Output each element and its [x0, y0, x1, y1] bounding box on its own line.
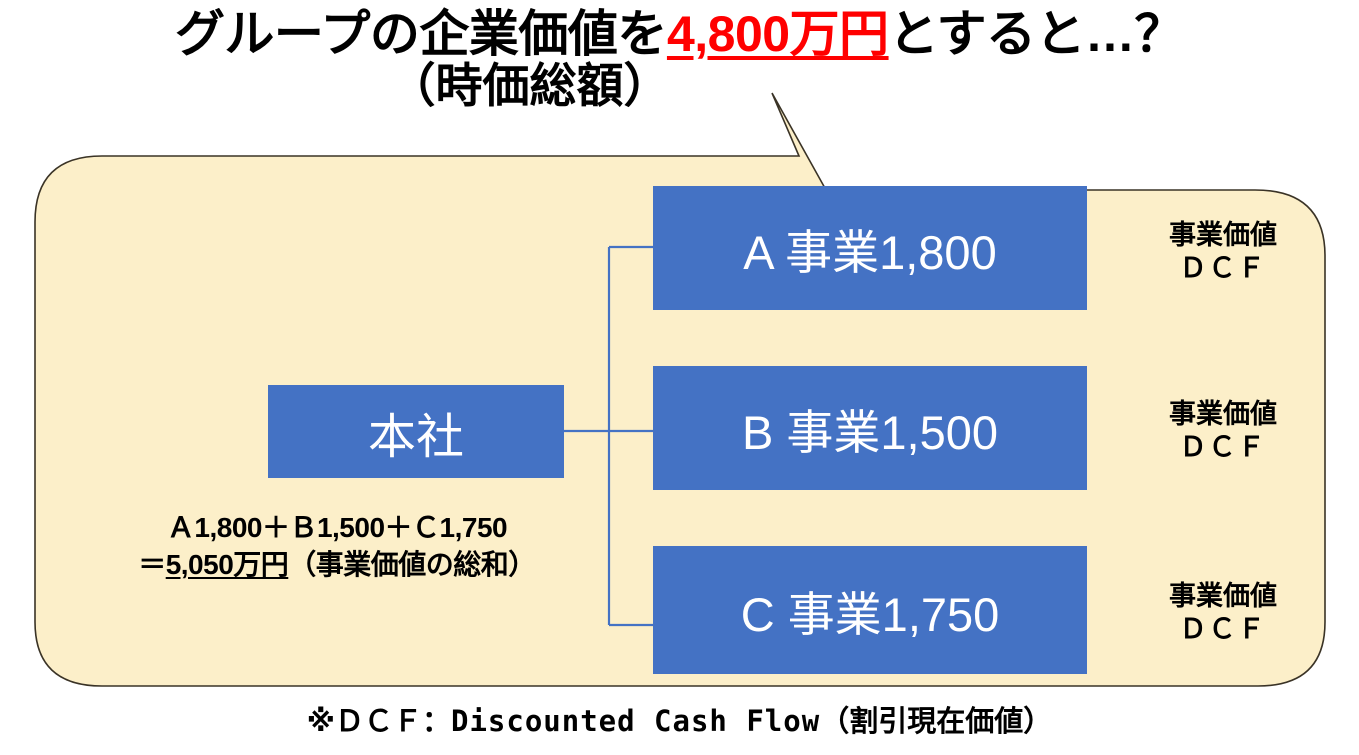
title-text-before: グループの企業価値を	[175, 6, 667, 62]
side-label-c-line1: 事業価値	[1169, 581, 1277, 611]
side-label-a: 事業価値 ＤＣＦ	[1113, 219, 1333, 285]
footnote-marker: ※ＤＣＦ：	[307, 706, 451, 738]
side-label-a-line1: 事業価値	[1169, 220, 1277, 250]
formula-total: 5,050万円	[166, 549, 289, 580]
footnote: ※ＤＣＦ：Discounted Cash Flow（割引現在価値）	[0, 698, 1359, 740]
title-highlight-amount: 4,800万円	[667, 6, 889, 62]
footnote-english: Discounted Cash Flow	[451, 704, 820, 738]
org-diagram: 本社 A 事業1,800 B 事業1,500 C 事業1,750 事業価値 ＤＣ…	[0, 0, 1359, 755]
footnote-japanese: （割引現在価値）	[820, 706, 1052, 738]
parent-company-box[interactable]: 本社	[268, 385, 564, 478]
business-unit-box-a[interactable]: A 事業1,800	[653, 186, 1087, 310]
side-label-c-line2: ＤＣＦ	[1113, 613, 1333, 646]
formula-block: Ａ1,800＋Ｂ1,500＋Ｃ1,750 ＝5,050万円（事業価値の総和）	[72, 510, 602, 584]
formula-line-2: ＝5,050万円（事業価値の総和）	[72, 547, 602, 584]
business-unit-label-c: C 事業1,750	[741, 576, 1000, 645]
formula-equals: ＝	[138, 549, 166, 580]
title-text-after: とすると…？	[889, 6, 1185, 62]
title-line-1: グループの企業価値を4,800万円とすると…？	[0, 8, 1359, 60]
page-title: グループの企業価値を4,800万円とすると…？ （時価総額）	[0, 8, 1359, 111]
side-label-c: 事業価値 ＤＣＦ	[1113, 580, 1333, 646]
parent-company-label: 本社	[368, 397, 464, 467]
side-label-b-line1: 事業価値	[1169, 399, 1277, 429]
side-label-b-line2: ＤＣＦ	[1113, 431, 1333, 464]
formula-note: （事業価値の総和）	[288, 549, 536, 580]
title-line-2: （時価総額）	[0, 62, 1359, 111]
business-unit-label-b: B 事業1,500	[742, 394, 998, 463]
business-unit-box-b[interactable]: B 事業1,500	[653, 366, 1087, 490]
formula-line-1: Ａ1,800＋Ｂ1,500＋Ｃ1,750	[167, 512, 507, 543]
business-unit-label-a: A 事業1,800	[743, 214, 996, 283]
business-unit-box-c[interactable]: C 事業1,750	[653, 546, 1087, 674]
side-label-a-line2: ＤＣＦ	[1113, 252, 1333, 285]
side-label-b: 事業価値 ＤＣＦ	[1113, 398, 1333, 464]
